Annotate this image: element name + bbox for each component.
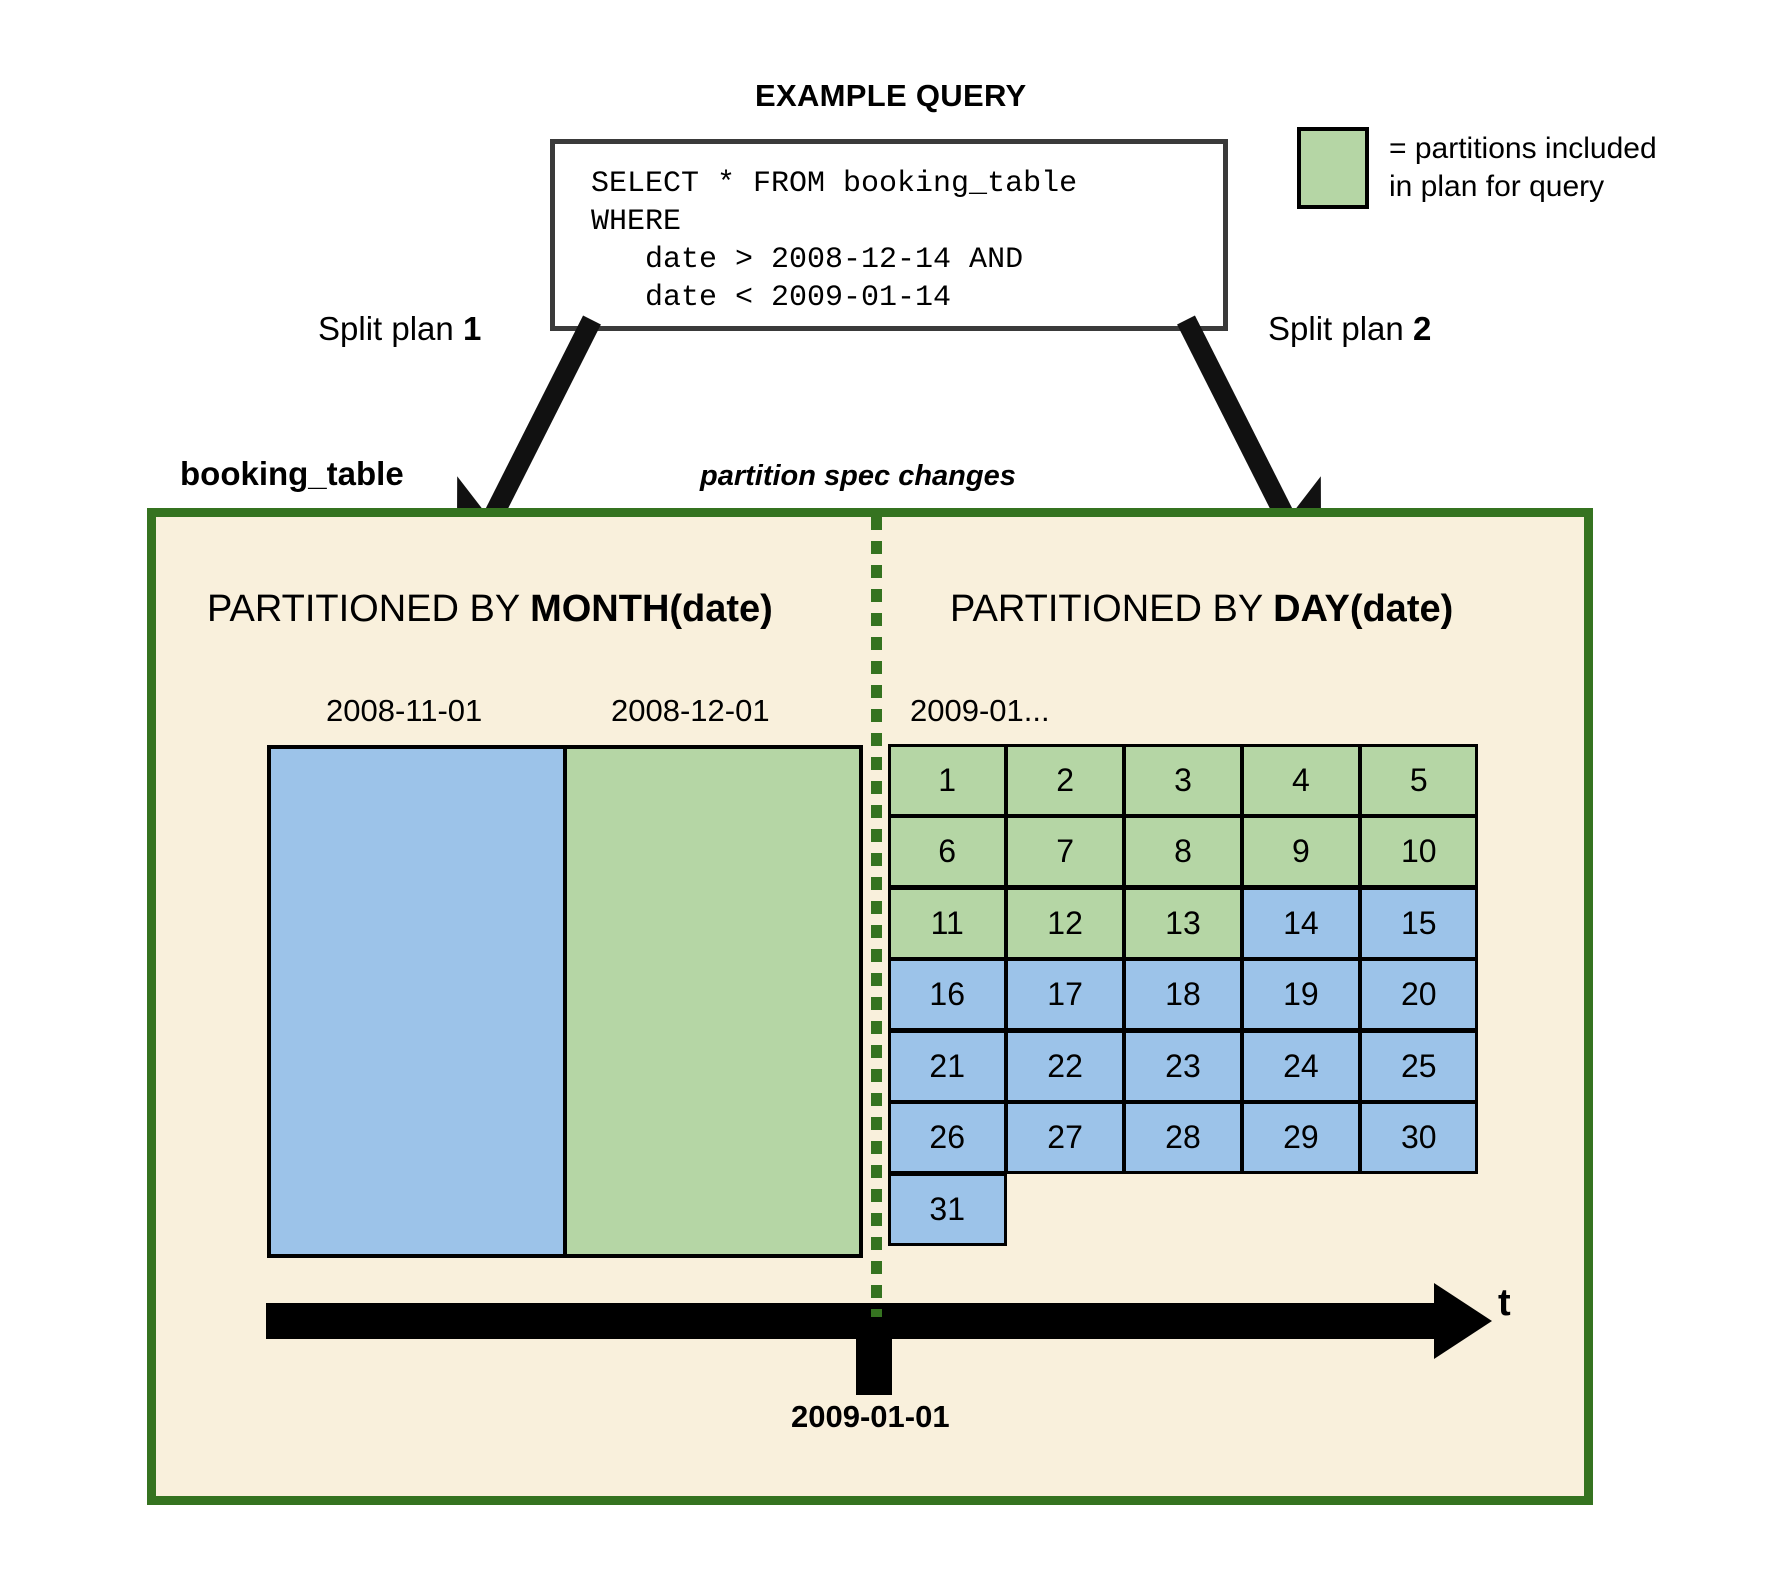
partition-spec-divider — [871, 517, 882, 1317]
time-axis — [0, 0, 1785, 1590]
time-axis-label: t — [1498, 1282, 1511, 1325]
time-axis-tick-label: 2009-01-01 — [791, 1399, 950, 1435]
